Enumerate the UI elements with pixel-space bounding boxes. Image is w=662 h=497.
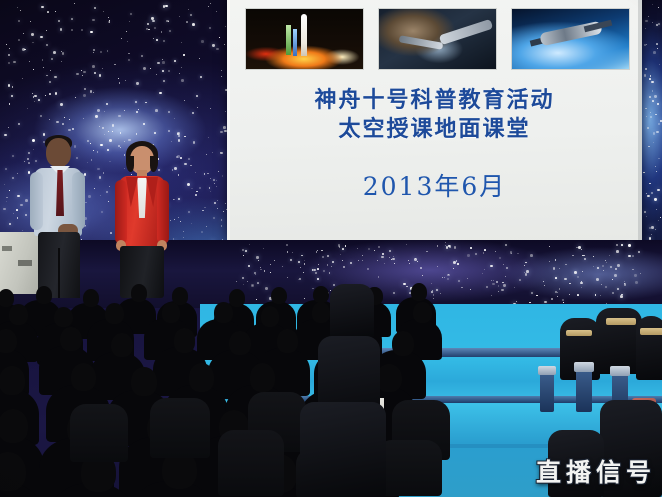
empty-seat: [636, 316, 662, 380]
seat-post-cap: [574, 362, 594, 372]
slide-title-block: 神舟十号科普教育活动 太空授课地面课堂 2013年6月: [227, 86, 642, 203]
slide-date: 2013年6月: [227, 167, 642, 203]
seat-post: [576, 368, 592, 412]
spacecraft-docking-photo: [378, 8, 497, 70]
broadcast-frame: 神舟十号科普教育活动 太空授课地面课堂 2013年6月: [0, 0, 662, 497]
seat-post-cap: [538, 366, 556, 375]
seat-headrest-tag: [566, 330, 592, 336]
seat-headrest-tag: [640, 328, 662, 335]
broadcast-watermark: 直播信号: [536, 453, 656, 489]
projection-screen: 神舟十号科普教育活动 太空授课地面课堂 2013年6月: [227, 0, 642, 241]
slide-thumbnail-row: [245, 8, 630, 70]
seat-post-cap: [610, 366, 630, 376]
seat-back: [300, 402, 386, 497]
seat-post: [540, 372, 554, 412]
slide-title-line-1: 神舟十号科普教育活动: [227, 86, 642, 115]
space-station-orbit-photo: [511, 8, 630, 70]
screen-left-edge: [227, 0, 230, 241]
slide-title-line-2: 太空授课地面课堂: [227, 115, 642, 144]
seat-headrest-tag: [606, 318, 636, 325]
screen-right-edge: [638, 0, 642, 241]
rocket-launch-photo: [245, 8, 364, 70]
seat-back: [330, 284, 374, 338]
